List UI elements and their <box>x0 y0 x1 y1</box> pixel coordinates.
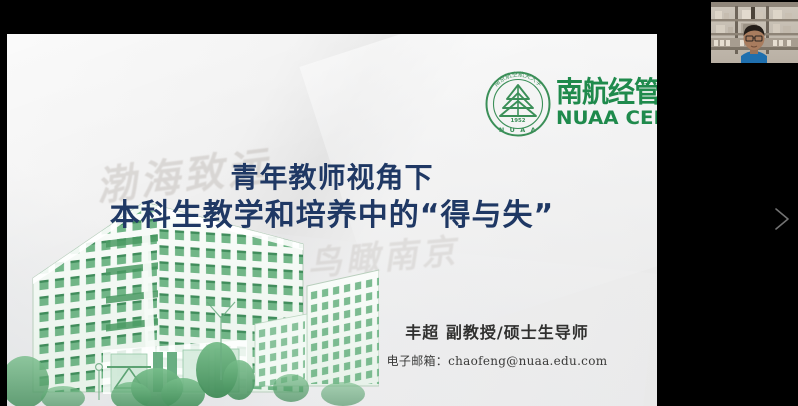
svg-text:1952: 1952 <box>510 118 525 124</box>
presenter-video-thumbnail[interactable] <box>711 2 798 63</box>
nuaa-cem-logo: 1952 N U A A 南京航空航天大学 南航经管 NUAA CEM <box>484 66 657 142</box>
presentation-slide[interactable]: 渤海致远 鸟瞰南京 <box>7 34 657 406</box>
logo-brand-en: NUAA CEM <box>556 109 657 128</box>
svg-text:N U A A: N U A A <box>499 126 537 134</box>
presenter-email: 电子邮箱：chaofeng@nuaa.edu.com <box>337 352 657 369</box>
nuaa-emblem-icon: 1952 N U A A 南京航空航天大学 <box>484 70 552 138</box>
logo-brand-cn: 南航经管 <box>556 78 657 106</box>
presenter-info: 丰超 副教授/硕士生导师 电子邮箱：chaofeng@nuaa.edu.com <box>337 319 657 369</box>
chevron-right-icon[interactable] <box>770 205 794 233</box>
screen-share-stage: 渤海致远 鸟瞰南京 <box>0 0 798 406</box>
campus-building-illustration <box>7 174 379 406</box>
presenter-name: 丰超 副教授/硕士生导师 <box>337 319 657 343</box>
